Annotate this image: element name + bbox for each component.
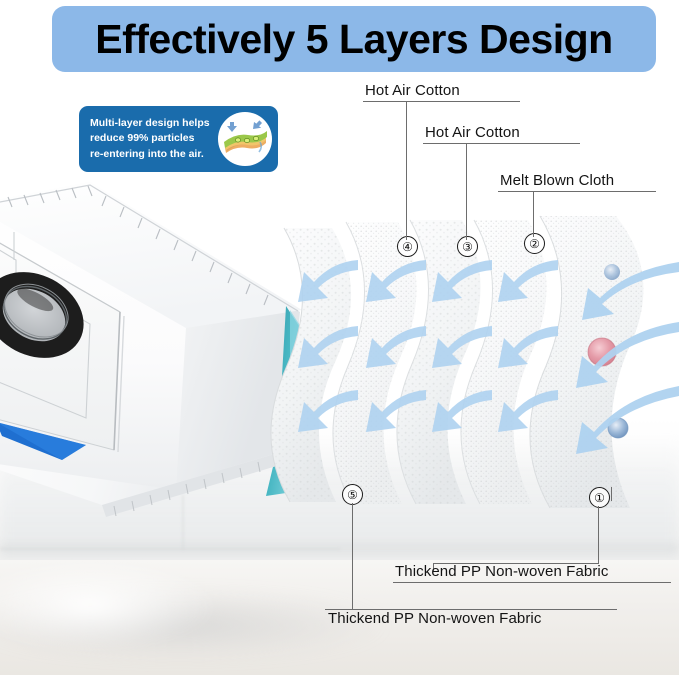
leader-line-3 [466,143,467,236]
label-underline-3 [423,143,580,144]
infographic-canvas: Effectively 5 Layers Design Multi-layer … [0,0,679,675]
dust-particle-blue [604,264,620,280]
label-hot-air-cotton-4: Hot Air Cotton [365,82,460,99]
callout-number-1: ① [589,487,610,508]
tick-mark-2 [533,225,534,237]
leader-line-5-v [352,503,353,609]
callout-number-5: ⑤ [342,484,363,505]
info-line-1: Multi-layer design helps [90,116,228,132]
background-highlight [0,560,220,650]
tick-mark-1 [611,487,612,501]
label-underline-1 [393,582,671,583]
info-callout-text: Multi-layer design helps reduce 99% part… [79,116,228,163]
callout-number-3: ③ [457,236,478,257]
tick-mark-4 [406,228,407,240]
layered-filter-icon [218,112,272,166]
label-hot-air-cotton-3: Hot Air Cotton [425,124,520,141]
callout-number-4: ④ [397,236,418,257]
leader-line-1-v [598,506,599,564]
label-underline-4 [363,101,520,102]
label-melt-blown-cloth-2: Melt Blown Cloth [500,172,614,189]
page-title: Effectively 5 Layers Design [95,19,612,60]
info-line-2: reduce 99% particles [90,131,228,147]
tick-mark-3 [466,228,467,240]
label-underline-2 [498,191,656,192]
background-ledge [0,545,679,555]
callout-number-2: ② [524,233,545,254]
leader-line-4 [406,101,407,236]
label-thickend-pp-5: Thickend PP Non-woven Fabric [328,610,541,627]
title-banner: Effectively 5 Layers Design [52,6,656,72]
background-seam-horizontal [0,548,340,550]
label-thickend-pp-1: Thickend PP Non-woven Fabric [395,563,608,580]
